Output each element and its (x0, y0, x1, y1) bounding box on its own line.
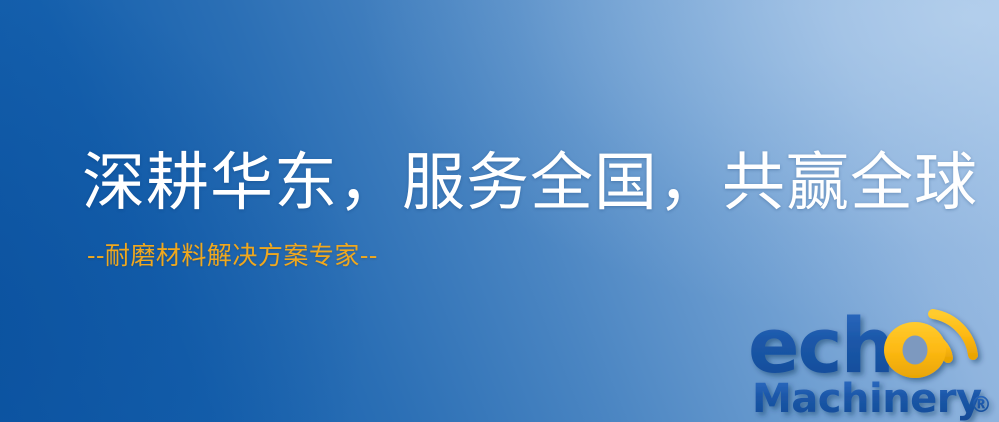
banner-headline: 深耕华东，服务全国，共赢全球 (82, 148, 942, 219)
banner-text-block: 深耕华东，服务全国，共赢全球 --耐磨材料解决方案专家-- (82, 148, 942, 271)
banner-subtitle: --耐磨材料解决方案专家-- (87, 241, 942, 271)
promotional-banner: 深耕华东，服务全国，共赢全球 --耐磨材料解决方案专家-- (0, 0, 999, 422)
echo-machinery-logo: ech Machinery ® (748, 292, 999, 422)
logo-wordmark-gold-o (884, 322, 946, 378)
logo-tagline: Machinery (752, 376, 982, 422)
registered-trademark-icon: ® (970, 393, 992, 418)
